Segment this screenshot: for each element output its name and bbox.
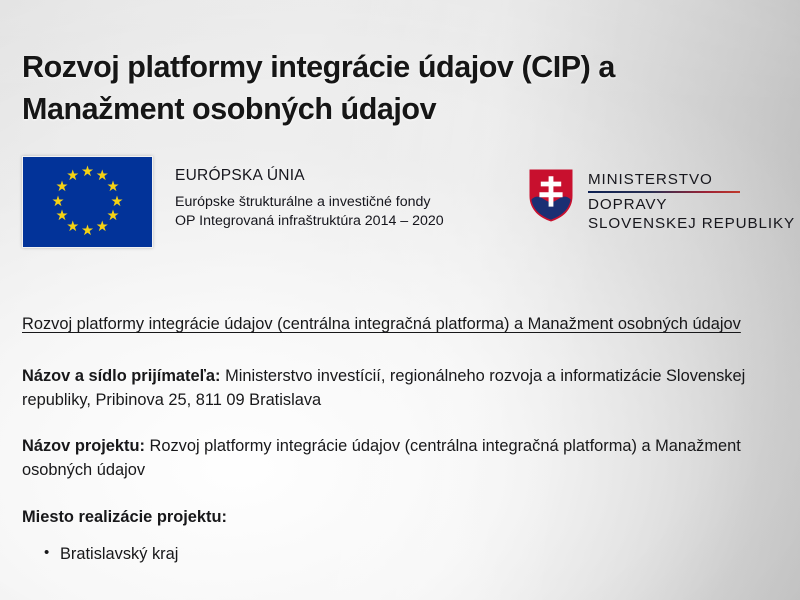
logo-band: ★★★★★★★★★★★★ EURÓPSKA ÚNIA Európske štru…: [0, 152, 800, 256]
slovak-coat-of-arms-icon: [528, 168, 574, 223]
eu-title: EURÓPSKA ÚNIA: [175, 165, 444, 187]
eu-star-icon: ★: [55, 210, 68, 223]
eu-star-icon: ★: [52, 196, 65, 209]
ministry-line-1: MINISTERSTVO: [588, 171, 795, 188]
ministry-divider: [588, 191, 740, 193]
location-label: Miesto realizácie projektu:: [22, 505, 776, 529]
page-title: Rozvoj platformy integrácie údajov (CIP)…: [22, 47, 774, 130]
eu-star-icon: ★: [96, 221, 109, 234]
beneficiary-paragraph: Názov a sídlo prijímateľa: Ministerstvo …: [22, 364, 776, 412]
eu-star-icon: ★: [66, 170, 79, 183]
eu-star-icon: ★: [81, 166, 94, 179]
ministry-logo-block: MINISTERSTVO DOPRAVY SLOVENSKEJ REPUBLIK…: [528, 168, 795, 234]
list-item: Bratislavský kraj: [60, 543, 776, 567]
eu-subtitle-line-1: Európske štrukturálne a investičné fondy: [175, 193, 444, 211]
eu-logo-text: EURÓPSKA ÚNIA Európske štrukturálne a in…: [175, 156, 444, 230]
ministry-line-3: SLOVENSKEJ REPUBLIKY: [588, 215, 795, 234]
slide-content: Rozvoj platformy integrácie údajov (CIP)…: [0, 0, 800, 600]
project-name-paragraph: Názov projektu: Rozvoj platformy integrá…: [22, 434, 776, 482]
eu-subtitle-line-2: OP Integrovaná infraštruktúra 2014 – 202…: [175, 212, 444, 230]
eu-logo-block: ★★★★★★★★★★★★ EURÓPSKA ÚNIA Európske štru…: [22, 156, 444, 248]
location-list: Bratislavský kraj: [22, 543, 776, 567]
eu-flag-icon: ★★★★★★★★★★★★: [22, 156, 153, 248]
eu-star-icon: ★: [107, 181, 120, 194]
eu-star-icon: ★: [81, 225, 94, 238]
body-copy: Rozvoj platformy integrácie údajov (cent…: [22, 312, 776, 566]
eu-star-icon: ★: [111, 196, 124, 209]
project-name-label: Názov projektu:: [22, 437, 145, 455]
beneficiary-label: Názov a sídlo prijímateľa:: [22, 367, 221, 385]
presentation-slide: Rozvoj platformy integrácie údajov (CIP)…: [0, 0, 800, 600]
project-heading: Rozvoj platformy integrácie údajov (cent…: [22, 312, 776, 336]
ministry-logo-text: MINISTERSTVO DOPRAVY SLOVENSKEJ REPUBLIK…: [588, 168, 795, 234]
ministry-line-2: DOPRAVY: [588, 196, 795, 215]
